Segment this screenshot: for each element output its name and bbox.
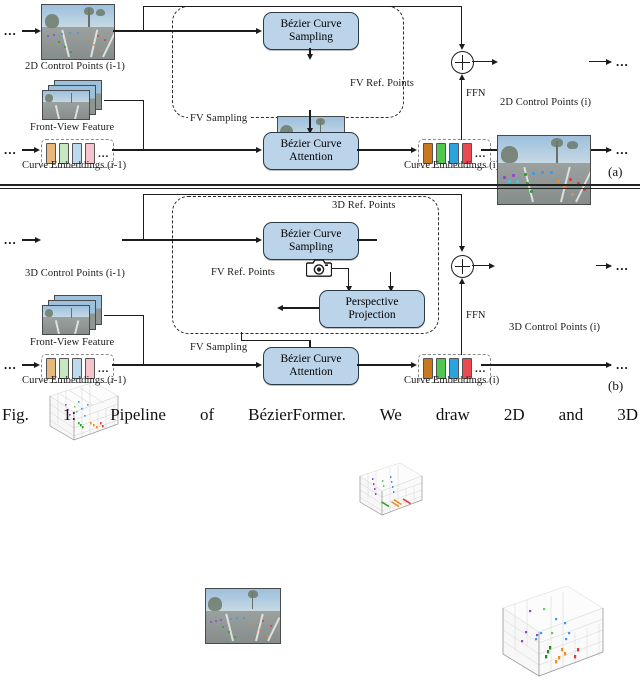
control-point <box>532 172 535 175</box>
arrow-head <box>35 237 41 243</box>
ref-point <box>228 631 230 633</box>
arrow-head <box>34 147 40 153</box>
panel-b-fv-ref-label: FV Ref. Points <box>211 267 275 278</box>
feature-map-layer <box>42 305 90 335</box>
connector-line <box>22 239 36 240</box>
connector-line <box>143 194 462 195</box>
connector-line <box>241 340 310 341</box>
panel-b-front-view-feature <box>42 295 104 337</box>
arrow-head <box>307 54 313 60</box>
panel-b-embed-in-label: Curve Embeddings (i-1) <box>22 375 126 386</box>
panel-a-input-label: 2D Control Points (i-1) <box>25 61 125 72</box>
tree-canopy <box>45 14 59 28</box>
road-region <box>43 317 89 334</box>
control-point <box>569 178 572 181</box>
arrow-head <box>492 59 498 65</box>
tree-canopy <box>248 590 258 598</box>
caption-line: Fig. 1: Pipeline of BézierFormer. We dra… <box>0 404 640 425</box>
panel-b-output-ellipsis: ... <box>616 258 629 274</box>
plot3d-axes <box>493 576 611 686</box>
arrow-head <box>606 362 612 368</box>
connector-line <box>104 315 144 316</box>
connector-line <box>143 6 462 7</box>
panel-b-ref3d-label: 3D Ref. Points <box>332 200 396 211</box>
arrow-head <box>256 28 262 34</box>
ref-point <box>262 620 264 622</box>
camera-icon <box>306 258 332 278</box>
ref-point <box>266 635 268 637</box>
control-point <box>550 171 553 174</box>
control-point <box>541 171 544 174</box>
panel-a-output-image <box>497 135 591 205</box>
ref-point <box>259 629 261 631</box>
arrow-head <box>489 263 495 269</box>
connector-line <box>461 194 462 250</box>
tree-canopy <box>45 309 53 317</box>
tree-canopy <box>45 94 53 102</box>
panel-b-input-ellipsis: ... <box>4 232 17 248</box>
ffn-connector-line <box>461 78 462 140</box>
ref-point <box>220 619 222 621</box>
connector-line <box>357 364 415 365</box>
panel-a-tag: (a) <box>608 164 622 180</box>
panel-b-bezier-sampling-box[interactable]: Bézier Curve Sampling <box>263 222 359 260</box>
panel-a-sum-node <box>451 51 474 74</box>
ref-point <box>243 617 245 619</box>
plot3d-axes <box>350 458 428 520</box>
control-point <box>512 174 515 177</box>
panel-separator <box>0 184 640 186</box>
connector-line <box>143 6 144 31</box>
panel-a-embed-in-ellipsis: ... <box>4 142 17 158</box>
arrow-head <box>35 28 41 34</box>
arrow-head <box>459 246 465 252</box>
embedding-ellipsis: ... <box>98 363 109 375</box>
panel-b-fv-ref-image <box>205 588 281 644</box>
embedding-ellipsis: ... <box>98 148 109 160</box>
ref-point <box>236 617 238 619</box>
ref-point <box>215 620 217 622</box>
panel-b-embed-out-ellipsis: ... <box>616 357 629 373</box>
connector-line <box>357 149 415 150</box>
panel-a-input-image <box>41 4 115 60</box>
arrow-head <box>459 278 465 284</box>
tree-canopy <box>316 118 325 125</box>
panel-a-input-ellipsis: ... <box>4 23 17 39</box>
box-text: Bézier Curve Sampling <box>281 228 342 254</box>
connector-line <box>143 194 144 240</box>
figure-pipeline: 2D Control Points (i-1) ... Front-View F… <box>0 0 640 426</box>
panel-a-embed-out-ellipsis: ... <box>616 142 629 158</box>
ref-point <box>210 621 212 623</box>
box-text: Perspective Projection <box>345 296 398 322</box>
connector-line <box>104 100 144 101</box>
panel-a-bezier-sampling-box[interactable]: Bézier Curve Sampling <box>263 12 359 50</box>
control-point <box>530 190 533 193</box>
panel-a-feature-label: Front-View Feature <box>30 122 114 133</box>
panel-b-ref3d-plot <box>350 458 428 520</box>
panel-b-bezier-attention-box[interactable]: Bézier Curve Attention <box>263 347 359 385</box>
panel-a-fv-sampling-label: FV Sampling <box>188 113 249 124</box>
arrow-head <box>411 147 417 153</box>
box-text: Bézier Curve Attention <box>281 138 342 164</box>
connector-line <box>113 30 260 31</box>
connector-line <box>143 100 144 149</box>
panel-a-embed-out-label: Curve Embeddings (i) <box>404 160 499 171</box>
feature-map-layer <box>42 90 90 120</box>
figure-caption: Fig. 1: Pipeline of BézierFormer. We dra… <box>0 404 640 425</box>
arrow-head <box>277 305 283 311</box>
arrow-head <box>256 147 262 153</box>
control-point <box>524 173 527 176</box>
tree-canopy <box>208 597 222 611</box>
ref-point <box>252 623 254 625</box>
ffn-connector-line <box>461 282 462 355</box>
arrow-head <box>459 44 465 50</box>
road-region <box>43 102 89 119</box>
ref-point <box>234 636 236 638</box>
ref-point <box>222 626 224 628</box>
panel-b-ffn-label: FFN <box>466 310 486 321</box>
arrow-head <box>411 362 417 368</box>
arrow-head <box>459 74 465 80</box>
connector-line <box>481 364 611 365</box>
arrow-head <box>606 263 612 269</box>
panel-b-fv-sampling-label: FV Sampling <box>188 342 249 353</box>
connector-line <box>22 30 36 31</box>
panel-a-output-ellipsis: ... <box>616 54 629 70</box>
connector-line <box>112 149 260 150</box>
connector-line <box>112 364 260 365</box>
panel-a-embed-in-label: Curve Embeddings (i-1) <box>22 160 126 171</box>
control-point <box>508 180 511 183</box>
panel-a-output-label: 2D Control Points (i) <box>500 97 591 108</box>
panel-a-bezier-attention-box[interactable]: Bézier Curve Attention <box>263 132 359 170</box>
panel-b-tag: (b) <box>608 378 623 394</box>
connector-line <box>143 315 144 364</box>
connector-line <box>357 239 377 240</box>
tree-canopy <box>84 7 94 15</box>
panel-b-sum-node <box>451 255 474 278</box>
panel-a-ffn-label: FFN <box>466 88 486 99</box>
ref-point <box>230 618 232 620</box>
panel-b-input-label: 3D Control Points (i-1) <box>25 268 125 279</box>
connector-line <box>309 110 310 130</box>
connector-line <box>332 268 349 269</box>
arrow-head <box>256 362 262 368</box>
tree-canopy <box>501 146 518 163</box>
panel-b-embed-in-ellipsis: ... <box>4 357 17 373</box>
tree-trunk <box>71 93 72 103</box>
panel-b-output-plot <box>493 576 611 686</box>
panel-a-front-view-feature <box>42 80 104 122</box>
control-point <box>503 176 506 179</box>
control-point <box>557 180 560 183</box>
arrow-head <box>606 147 612 153</box>
arrow-head <box>34 362 40 368</box>
panel-b-feature-label: Front-View Feature <box>30 337 114 348</box>
tree-canopy <box>567 141 578 149</box>
tree-canopy <box>551 138 563 147</box>
panel-b-perspective-projection-box[interactable]: Perspective Projection <box>319 290 425 328</box>
arrow-head <box>606 59 612 65</box>
arrow-head <box>256 237 262 243</box>
ref-point <box>270 625 272 627</box>
panel-b-embed-out-label: Curve Embeddings (i) <box>404 375 499 386</box>
box-text: Bézier Curve Attention <box>281 353 342 379</box>
box-text: Bézier Curve Sampling <box>281 18 342 44</box>
tree-canopy <box>96 9 105 16</box>
control-point <box>516 180 519 183</box>
tree-trunk <box>71 308 72 318</box>
control-point <box>571 193 574 196</box>
panel-a-fv-ref-label: FV Ref. Points <box>350 78 414 89</box>
panel-separator <box>0 188 640 189</box>
connector-line <box>283 307 319 308</box>
connector-line <box>461 6 462 48</box>
panel-b-output-label: 3D Control Points (i) <box>509 322 600 333</box>
